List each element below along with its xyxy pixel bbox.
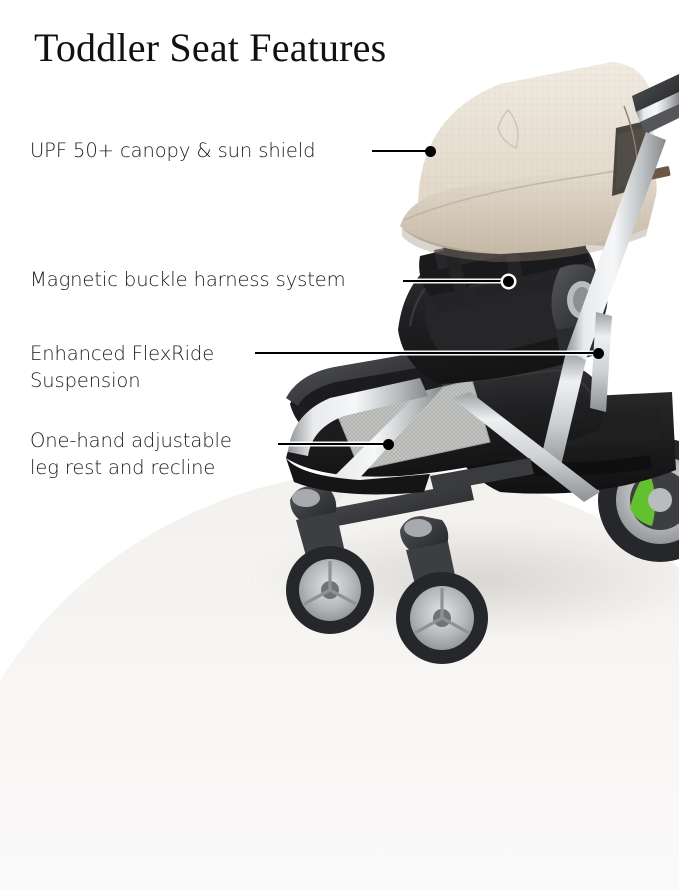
leader-dot-legrest [383, 439, 394, 450]
callout-label-canopy: UPF 50+ canopy & sun shield [30, 138, 315, 165]
callout-label-suspension-line1: Enhanced FlexRide [30, 341, 214, 368]
leader-dot-harness [503, 276, 514, 287]
callout-label-legrest-line2: leg rest and recline [30, 455, 232, 482]
stroller-illustration [0, 0, 679, 679]
leader-line-legrest [278, 443, 388, 445]
page-title: Toddler Seat Features [34, 24, 386, 71]
leader-line-canopy [372, 150, 430, 152]
leader-dot-suspension [593, 348, 604, 359]
front-swivel-wheel-right [396, 516, 488, 664]
leader-dot-canopy [425, 146, 436, 157]
callout-label-suspension-line2: Suspension [30, 368, 214, 395]
leader-line-suspension [255, 352, 598, 354]
illustration-canvas: Toddler Seat Features UPF 50+ canopy & s… [0, 0, 679, 679]
callout-label-harness: Magnetic buckle harness system [30, 267, 346, 294]
leader-line-harness [403, 280, 508, 282]
callout-label-suspension: Enhanced FlexRide Suspension [30, 341, 214, 395]
callout-label-legrest: One-hand adjustable leg rest and recline [30, 428, 232, 482]
callout-label-legrest-line1: One-hand adjustable [30, 428, 232, 455]
